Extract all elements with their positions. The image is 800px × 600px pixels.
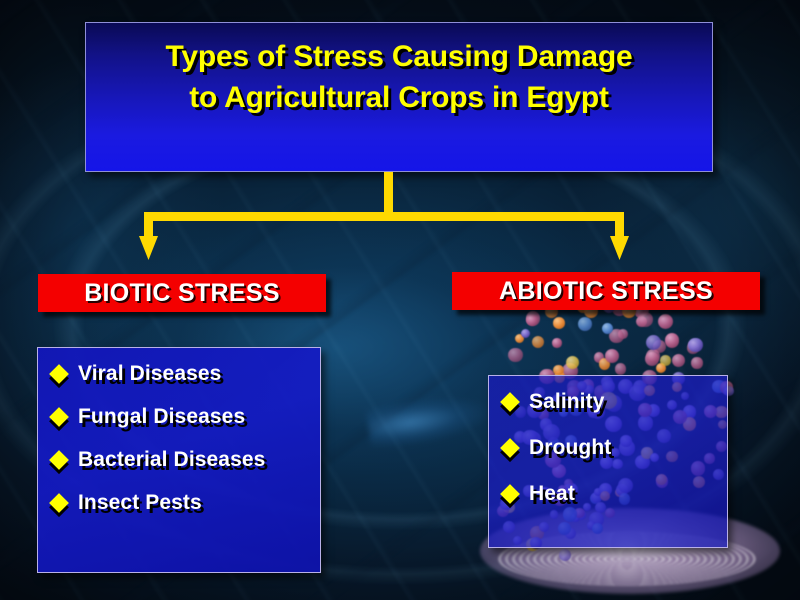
diamond-bullet-icon bbox=[500, 392, 520, 412]
molecule-atom bbox=[578, 317, 592, 331]
list-item[interactable]: Insect Pests bbox=[52, 491, 320, 515]
list-item[interactable]: Bacterial Diseases bbox=[52, 448, 320, 472]
molecule-atom bbox=[605, 349, 619, 363]
molecule-atom bbox=[566, 356, 579, 369]
molecule-atom bbox=[688, 338, 703, 353]
list-item[interactable]: Salinity bbox=[503, 390, 727, 414]
box-abiotic-stress: Salinity Drought Heat bbox=[488, 375, 728, 548]
molecule-atom bbox=[660, 355, 670, 365]
molecule-atom bbox=[553, 365, 564, 376]
molecule-atom bbox=[658, 314, 673, 329]
diamond-bullet-icon bbox=[500, 438, 520, 458]
title-box: Types of Stress Causing Damage to Agricu… bbox=[85, 22, 713, 172]
molecule-atom bbox=[553, 317, 565, 329]
diamond-bullet-icon bbox=[49, 493, 69, 513]
slide-canvas: Types of Stress Causing Damage to Agricu… bbox=[0, 0, 800, 600]
box-biotic-stress: Viral Diseases Fungal Diseases Bacterial… bbox=[37, 347, 321, 573]
molecule-atom bbox=[521, 329, 530, 338]
list-item-label: Heat bbox=[529, 482, 575, 506]
list-item[interactable]: Viral Diseases bbox=[52, 362, 320, 386]
diamond-bullet-icon bbox=[49, 407, 69, 427]
diamond-bullet-icon bbox=[49, 450, 69, 470]
list-item-label: Viral Diseases bbox=[78, 362, 221, 386]
list-item[interactable]: Heat bbox=[503, 482, 727, 506]
list-item[interactable]: Drought bbox=[503, 436, 727, 460]
list-item-label: Salinity bbox=[529, 390, 605, 414]
molecule-atom bbox=[691, 357, 702, 368]
diamond-bullet-icon bbox=[49, 364, 69, 384]
banner-biotic-stress[interactable]: BIOTIC STRESS bbox=[38, 274, 326, 312]
banner-abiotic-stress[interactable]: ABIOTIC STRESS bbox=[452, 272, 760, 310]
molecule-atom bbox=[646, 335, 661, 350]
molecule-atom bbox=[532, 336, 544, 348]
molecule-atom bbox=[508, 348, 522, 362]
molecule-atom bbox=[615, 363, 627, 375]
list-item-label: Fungal Diseases bbox=[78, 405, 245, 429]
molecule-atom bbox=[665, 333, 680, 348]
molecule-atom bbox=[602, 323, 613, 334]
molecule-atom bbox=[672, 354, 685, 367]
molecule-atom bbox=[526, 314, 538, 326]
diamond-bullet-icon bbox=[500, 484, 520, 504]
molecule-atom bbox=[552, 338, 561, 347]
page-title: Types of Stress Causing Damage to Agricu… bbox=[166, 37, 633, 118]
molecule-atom bbox=[638, 312, 653, 327]
list-item-label: Drought bbox=[529, 436, 611, 460]
list-item-label: Bacterial Diseases bbox=[78, 448, 265, 472]
banner-biotic-label: BIOTIC STRESS bbox=[84, 279, 280, 308]
list-item[interactable]: Fungal Diseases bbox=[52, 405, 320, 429]
banner-abiotic-label: ABIOTIC STRESS bbox=[499, 277, 713, 306]
list-item-label: Insect Pests bbox=[78, 491, 202, 515]
